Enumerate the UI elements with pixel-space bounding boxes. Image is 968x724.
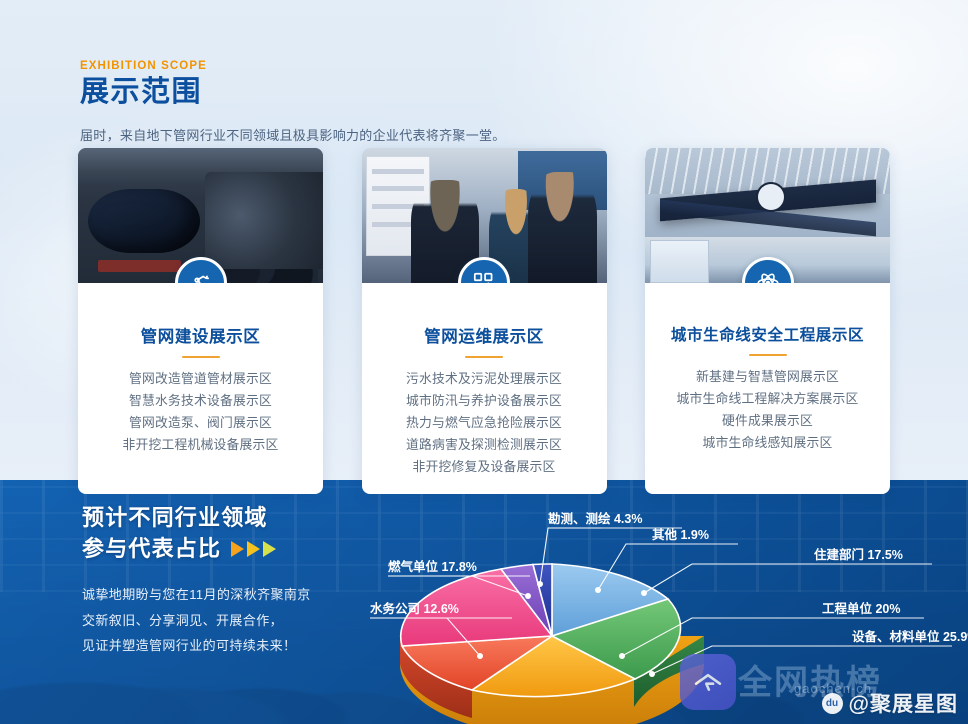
card-title: 城市生命线安全工程展示区 bbox=[659, 323, 876, 345]
list-item: 城市防汛与养护设备展示区 bbox=[376, 390, 593, 412]
panel-title: 预计不同行业领域 参与代表占比 bbox=[82, 502, 311, 564]
card-title: 管网建设展示区 bbox=[92, 323, 309, 347]
card-item-list: 污水技术及污泥处理展示区 城市防汛与养护设备展示区 热力与燃气应急抢险展示区 道… bbox=[376, 368, 593, 478]
panel-copy: 预计不同行业领域 参与代表占比 诚挚地期盼与您在11月的深秋齐聚南京 交新叙旧、… bbox=[82, 502, 311, 659]
baidu-paw-icon: du bbox=[822, 693, 843, 714]
card-body: 城市生命线安全工程展示区 新基建与智慧管网展示区 城市生命线工程解决方案展示区 … bbox=[645, 283, 890, 454]
statistics-panel: 预计不同行业领域 参与代表占比 诚挚地期盼与您在11月的深秋齐聚南京 交新叙旧、… bbox=[0, 480, 968, 724]
pie-3d-body bbox=[400, 564, 704, 724]
list-item: 管网改造泵、阀门展示区 bbox=[92, 412, 309, 434]
scope-card[interactable]: 城市生命线安全工程展示区 新基建与智慧管网展示区 城市生命线工程解决方案展示区 … bbox=[645, 148, 890, 494]
scope-card[interactable]: 管网建设展示区 管网改造管道管材展示区 智慧水务技术设备展示区 管网改造泵、阀门… bbox=[78, 148, 323, 494]
card-body: 管网建设展示区 管网改造管道管材展示区 智慧水务技术设备展示区 管网改造泵、阀门… bbox=[78, 283, 323, 456]
panel-paragraph: 诚挚地期盼与您在11月的深秋齐聚南京 交新叙旧、分享洞见、开展合作， 见证并塑造… bbox=[82, 582, 311, 658]
panel-paragraph-line2: 交新叙旧、分享洞见、开展合作， bbox=[82, 608, 311, 633]
list-item: 新基建与智慧管网展示区 bbox=[659, 366, 876, 388]
poster-page: EXHIBITION SCOPE 展示范围 届时，来自地下管网行业不同领域且极具… bbox=[0, 0, 968, 724]
pie-label-housing: 住建部门 17.5% bbox=[814, 547, 903, 562]
card-photo bbox=[362, 148, 607, 283]
pie-label-engineering: 工程单位 20% bbox=[822, 601, 901, 616]
card-divider bbox=[465, 356, 503, 358]
list-item: 城市生命线感知展示区 bbox=[659, 432, 876, 454]
panel-paragraph-line1: 诚挚地期盼与您在11月的深秋齐聚南京 bbox=[82, 582, 311, 607]
list-item: 热力与燃气应急抢险展示区 bbox=[376, 412, 593, 434]
app-tile-watermark-icon bbox=[680, 654, 736, 710]
pie-label-water: 水务公司 12.6% bbox=[370, 601, 459, 616]
card-divider bbox=[182, 356, 220, 358]
list-item: 非开挖工程机械设备展示区 bbox=[92, 434, 309, 456]
page-subtitle: 届时，来自地下管网行业不同领域且极具影响力的企业代表将齐聚一堂。 bbox=[80, 125, 506, 144]
list-item: 智慧水务技术设备展示区 bbox=[92, 390, 309, 412]
card-divider bbox=[749, 354, 787, 356]
watermark-handle: du @聚展星图 bbox=[822, 688, 958, 718]
pie-label-other: 其他 1.9% bbox=[652, 527, 709, 542]
scope-card-list: 管网建设展示区 管网改造管道管材展示区 智慧水务技术设备展示区 管网改造泵、阀门… bbox=[78, 148, 890, 494]
card-photo bbox=[78, 148, 323, 283]
panel-title-line2: 参与代表占比 bbox=[82, 533, 221, 564]
triple-arrow-icon bbox=[231, 541, 276, 557]
section-header: EXHIBITION SCOPE 展示范围 届时，来自地下管网行业不同领域且极具… bbox=[80, 60, 506, 144]
list-item: 道路病害及探测检测展示区 bbox=[376, 434, 593, 456]
pie-label-gas: 燃气单位 17.8% bbox=[388, 559, 477, 574]
scope-card[interactable]: 管网运维展示区 污水技术及污泥处理展示区 城市防汛与养护设备展示区 热力与燃气应… bbox=[362, 148, 607, 494]
card-item-list: 新基建与智慧管网展示区 城市生命线工程解决方案展示区 硬件成果展示区 城市生命线… bbox=[659, 366, 876, 454]
list-item: 污水技术及污泥处理展示区 bbox=[376, 368, 593, 390]
watermark-handle-text: @聚展星图 bbox=[849, 688, 958, 718]
panel-title-line1: 预计不同行业领域 bbox=[82, 502, 311, 533]
pie-label-survey: 勘测、测绘 4.3% bbox=[548, 511, 642, 526]
list-item: 管网改造管道管材展示区 bbox=[92, 368, 309, 390]
pie-label-equipment: 设备、材料单位 25.9% bbox=[852, 629, 968, 644]
card-body: 管网运维展示区 污水技术及污泥处理展示区 城市防汛与养护设备展示区 热力与燃气应… bbox=[362, 283, 607, 478]
list-item: 城市生命线工程解决方案展示区 bbox=[659, 388, 876, 410]
page-title: 展示范围 bbox=[80, 76, 506, 109]
eyebrow-label: EXHIBITION SCOPE bbox=[80, 60, 506, 72]
panel-paragraph-line3: 见证并塑造管网行业的可持续未来！ bbox=[82, 633, 311, 658]
list-item: 非开挖修复及设备展示区 bbox=[376, 456, 593, 478]
card-item-list: 管网改造管道管材展示区 智慧水务技术设备展示区 管网改造泵、阀门展示区 非开挖工… bbox=[92, 368, 309, 456]
list-item: 硬件成果展示区 bbox=[659, 410, 876, 432]
card-title: 管网运维展示区 bbox=[376, 323, 593, 347]
card-photo bbox=[645, 148, 890, 283]
